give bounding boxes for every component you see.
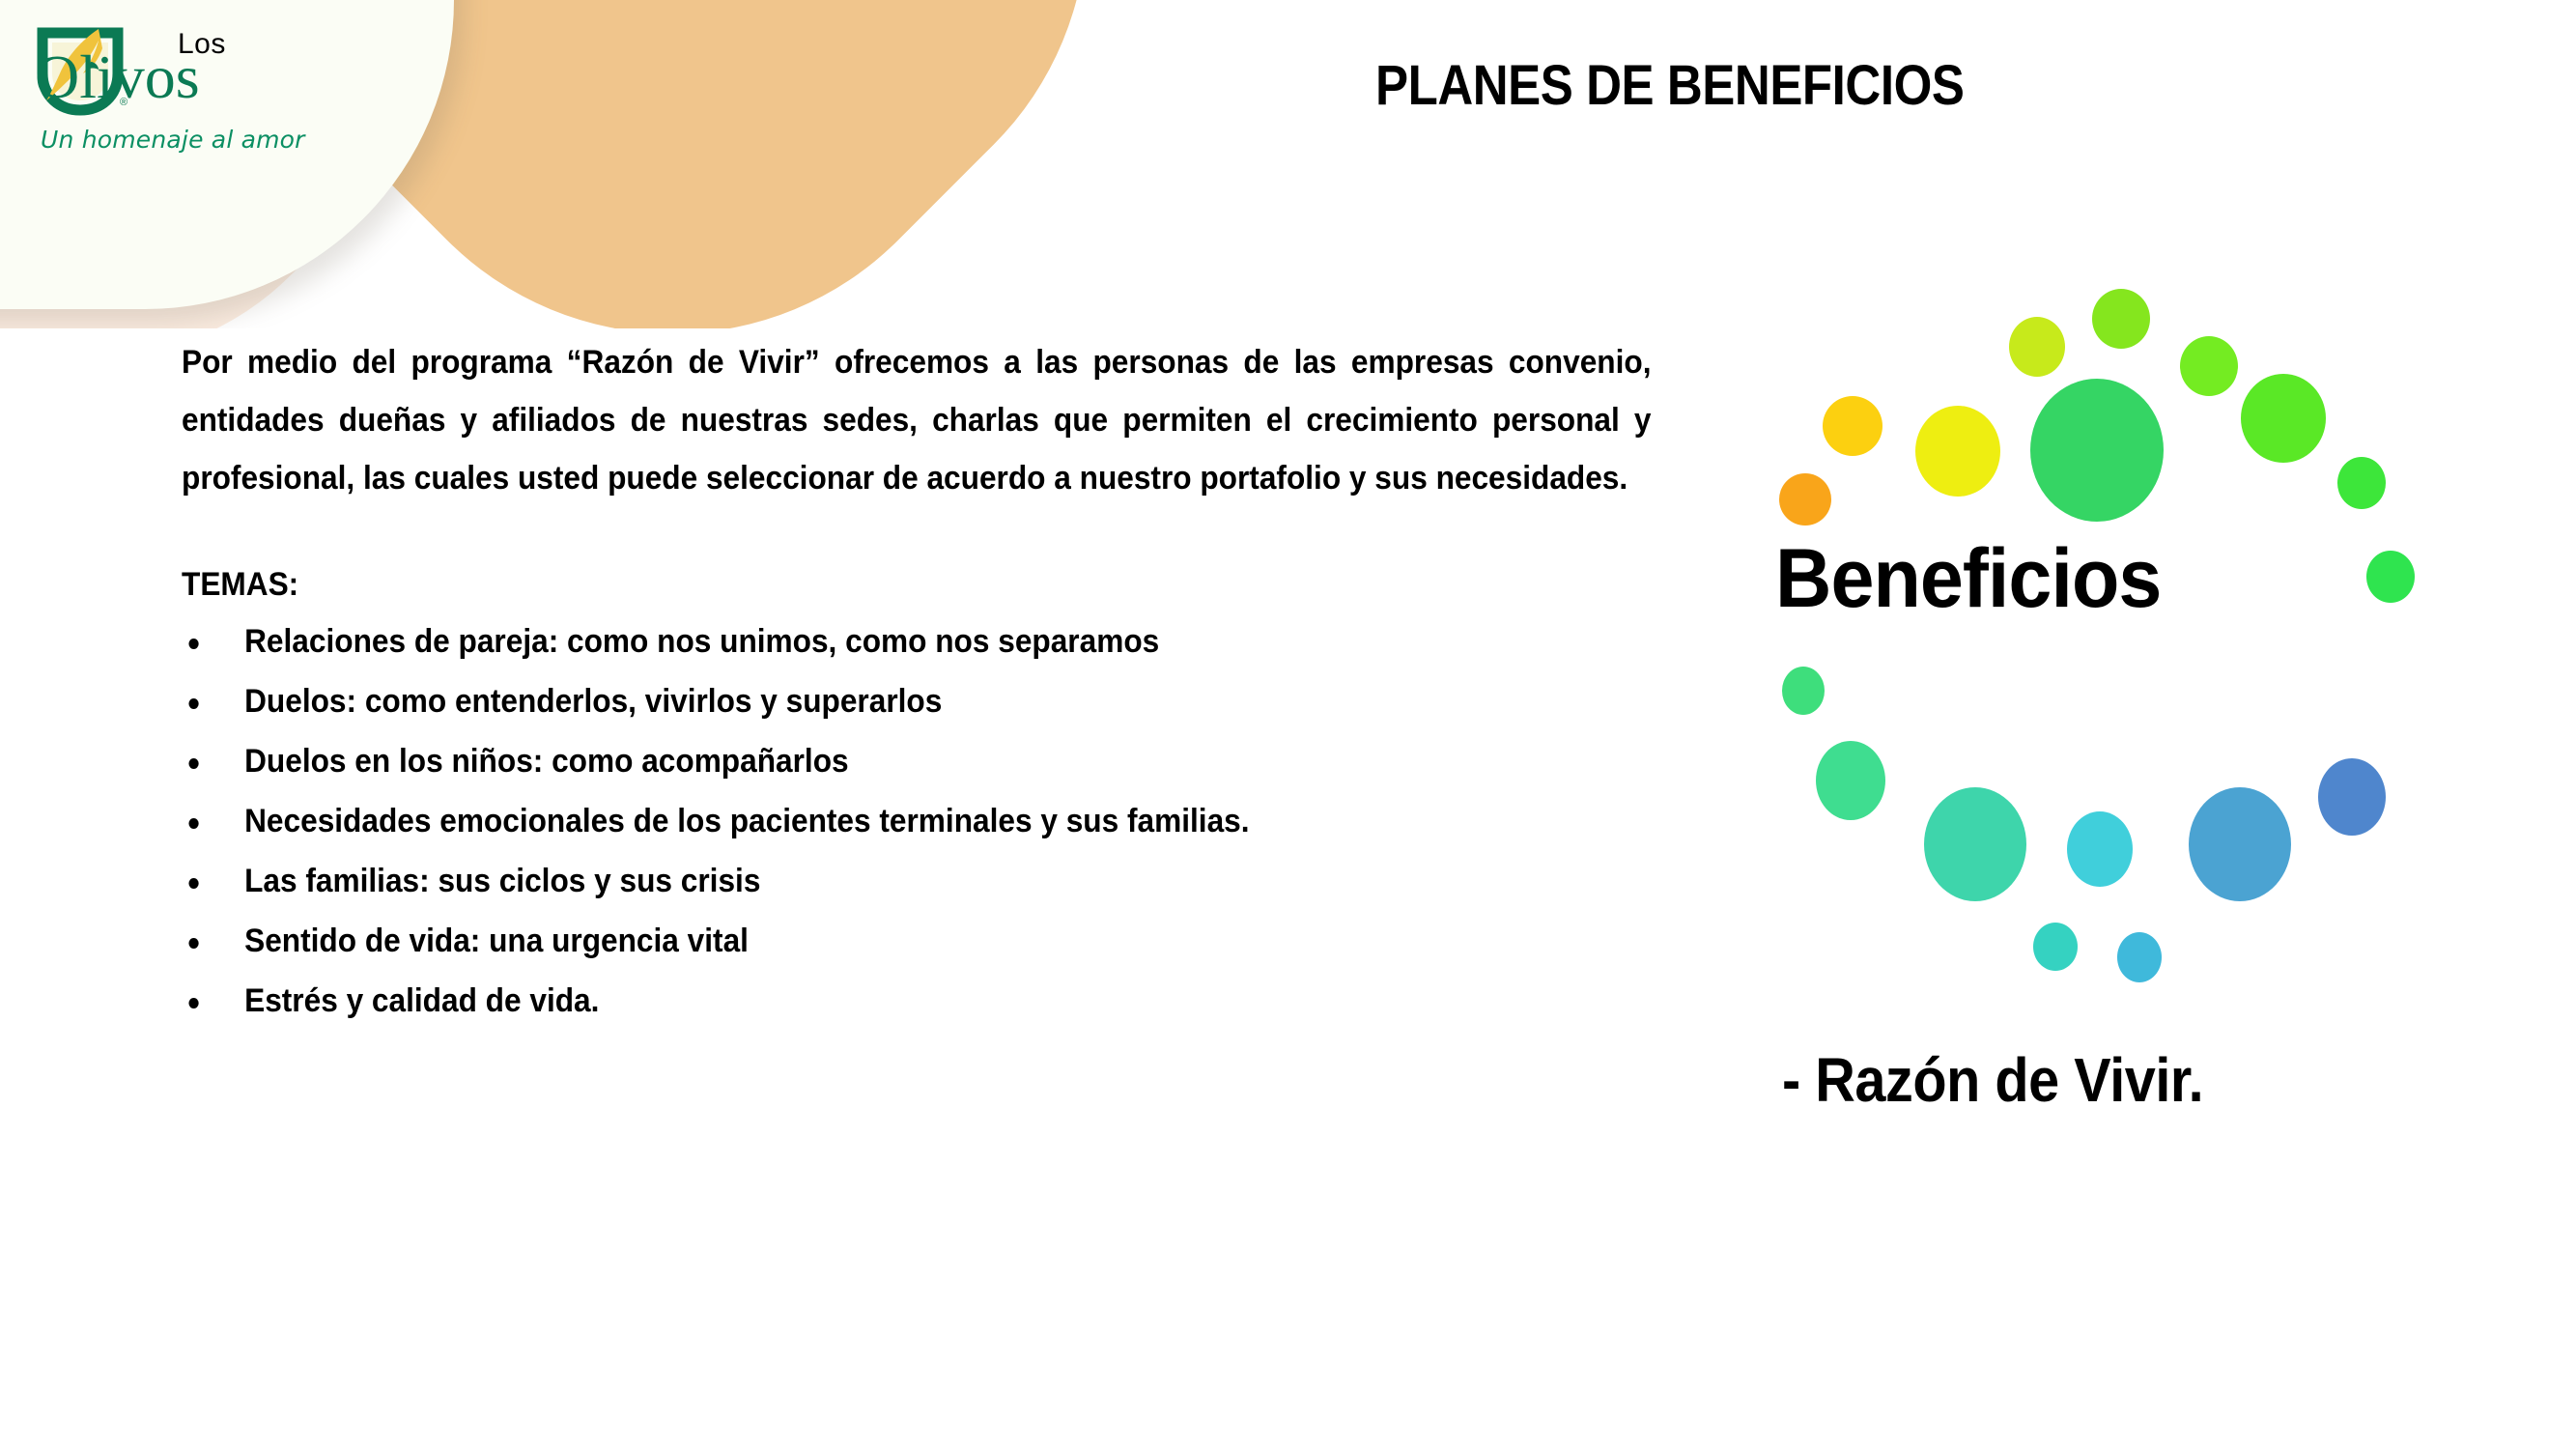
dot-orange	[1779, 473, 1831, 526]
dot-green-large	[2030, 379, 2164, 522]
registered-mark-icon: ®	[120, 97, 127, 108]
dot-yellow-green	[2009, 317, 2065, 377]
dot-blue-big	[2189, 787, 2291, 901]
dot-cyan-mid	[2067, 811, 2133, 887]
list-item: Necesidades emocionales de los pacientes…	[182, 791, 1651, 851]
dot-lime-right	[2180, 336, 2238, 396]
content-column: Por medio del programa “Razón de Vivir” …	[182, 333, 1652, 1031]
logo-tagline: Un homenaje al amor	[41, 126, 305, 154]
temas-list: Relaciones de pareja: como nos unimos, c…	[182, 611, 1651, 1031]
dot-blue-right	[2318, 758, 2386, 836]
dot-blue-small	[2117, 932, 2162, 982]
list-item: Las familias: sus ciclos y sus crisis	[182, 851, 1651, 911]
intro-paragraph: Por medio del programa “Razón de Vivir” …	[182, 333, 1651, 507]
list-item: Sentido de vida: una urgencia vital	[182, 911, 1651, 971]
intro-text-pre: Por medio del programa	[182, 344, 567, 381]
dot-green-sm-r2	[2366, 551, 2415, 603]
dot-teal-small	[2033, 923, 2078, 971]
dot-lime-top	[2092, 289, 2150, 349]
dot-green-sm-l	[1782, 667, 1825, 715]
page-title: PLANES DE BENEFICIOS	[1375, 58, 1964, 114]
dot-teal-big	[1924, 787, 2026, 901]
logo-word-olivos: Olivos	[35, 46, 200, 108]
list-item: Relaciones de pareja: como nos unimos, c…	[182, 611, 1651, 671]
benefits-word: Beneficios	[1775, 537, 2161, 620]
list-item: Duelos: como entenderlos, vivirlos y sup…	[182, 671, 1651, 731]
dot-mint-l	[1816, 741, 1885, 820]
list-item: Estrés y calidad de vida.	[182, 971, 1651, 1031]
brand-logo: Los Olivos ® Un homenaje al amor	[35, 23, 440, 158]
dot-green-sm-r	[2337, 457, 2386, 509]
dot-green-big2	[2241, 374, 2326, 463]
list-item: Duelos en los niños: como acompañarlos	[182, 731, 1651, 791]
dot-yellow	[1915, 406, 2000, 497]
temas-heading: TEMAS:	[182, 565, 1548, 604]
dot-gold	[1823, 396, 1882, 456]
intro-program-name: “Razón de Vivir”	[567, 344, 820, 381]
razon-de-vivir-caption: - Razón de Vivir.	[1782, 1045, 2203, 1115]
